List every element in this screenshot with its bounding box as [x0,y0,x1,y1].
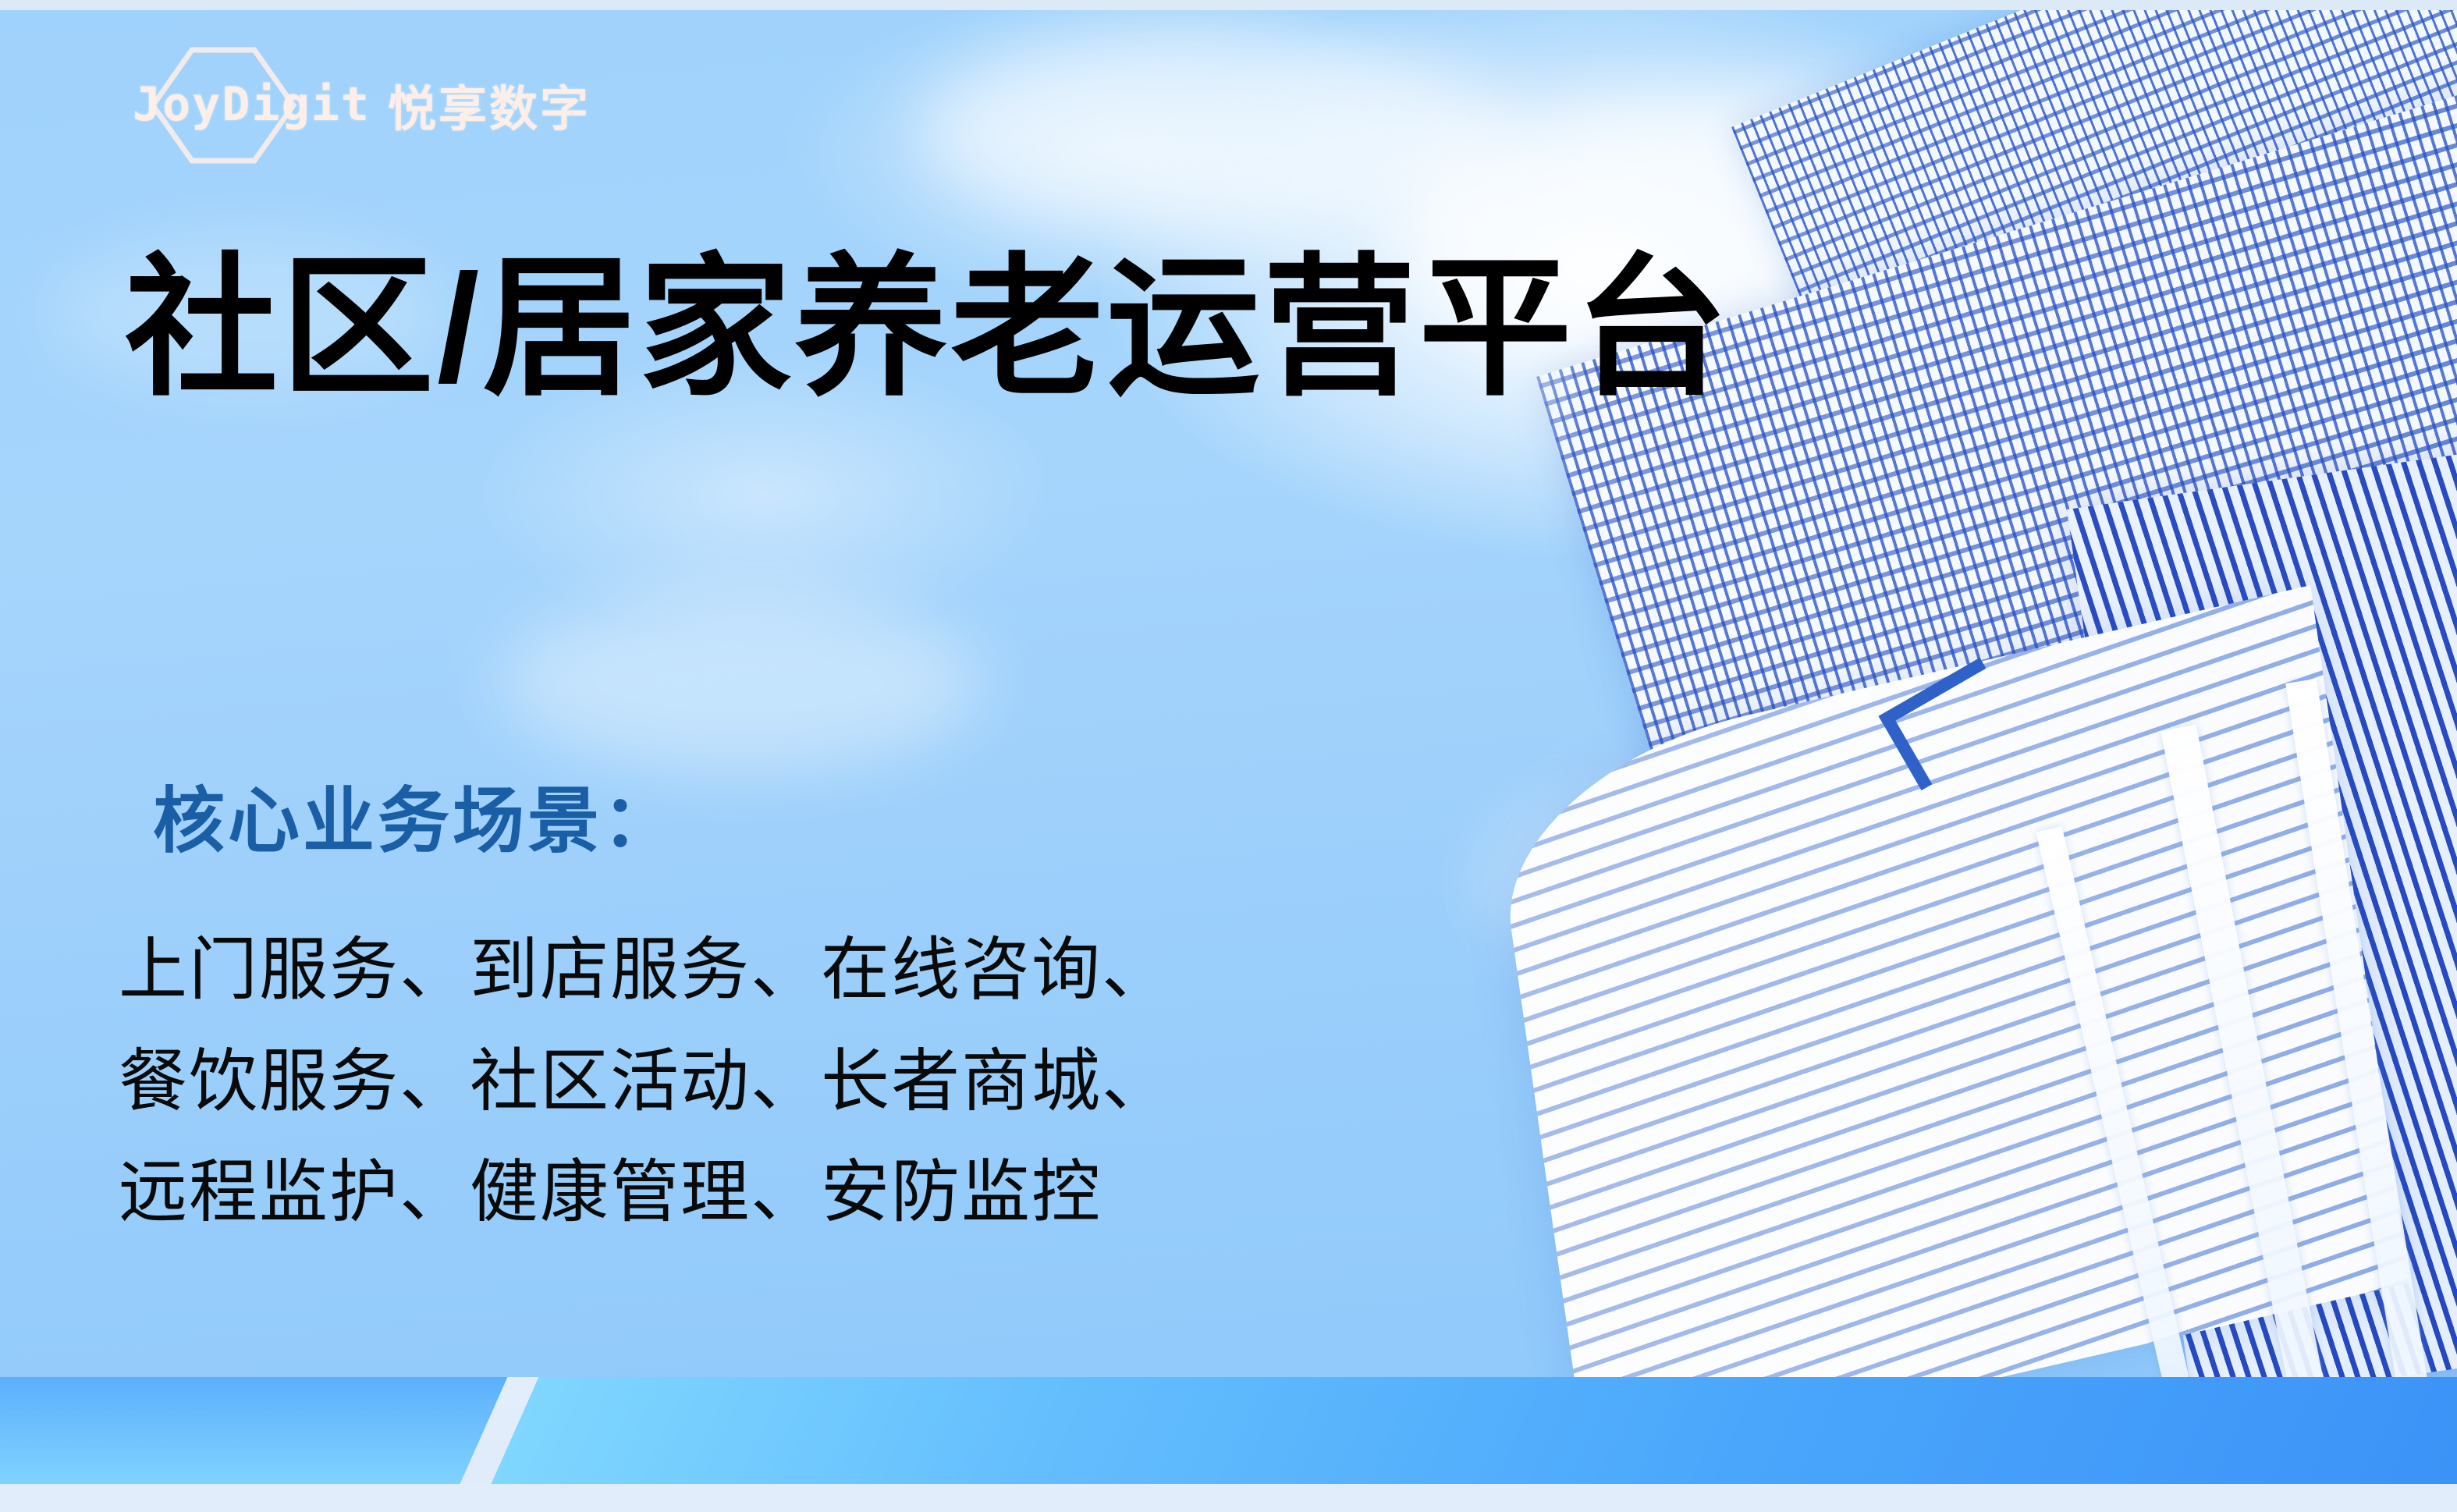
bottom-band-base [0,1484,2457,1512]
section-heading: 核心业务场景： [153,763,677,867]
brand-logo[interactable]: JoyDigit 悦享数字 [133,69,591,140]
scenario-line: 餐饮服务、社区活动、长者商城、 [119,1026,1172,1138]
page-title: 社区/居家养老运营平台 [125,248,1731,409]
band-parallelogram-right [492,1377,2457,1484]
top-edge-strip [0,0,2457,10]
scenario-line: 远程监护、健康管理、安防监控 [119,1137,1172,1248]
band-parallelogram-left [0,1377,507,1484]
business-scenarios-list: 上门服务、到店服务、在线咨询、 餐饮服务、社区活动、长者商城、 远程监护、健康管… [119,914,1172,1248]
brand-logo-chinese: 悦享数字 [388,69,591,140]
brand-logo-wordmark: JoyDigit [133,77,371,132]
slide-root: JoyDigit 悦享数字 社区/居家养老运营平台 核心业务场景： 上门服务、到… [0,0,2457,1512]
skyscraper-photo [1396,10,2457,1377]
scenario-line: 上门服务、到店服务、在线咨询、 [119,914,1172,1026]
